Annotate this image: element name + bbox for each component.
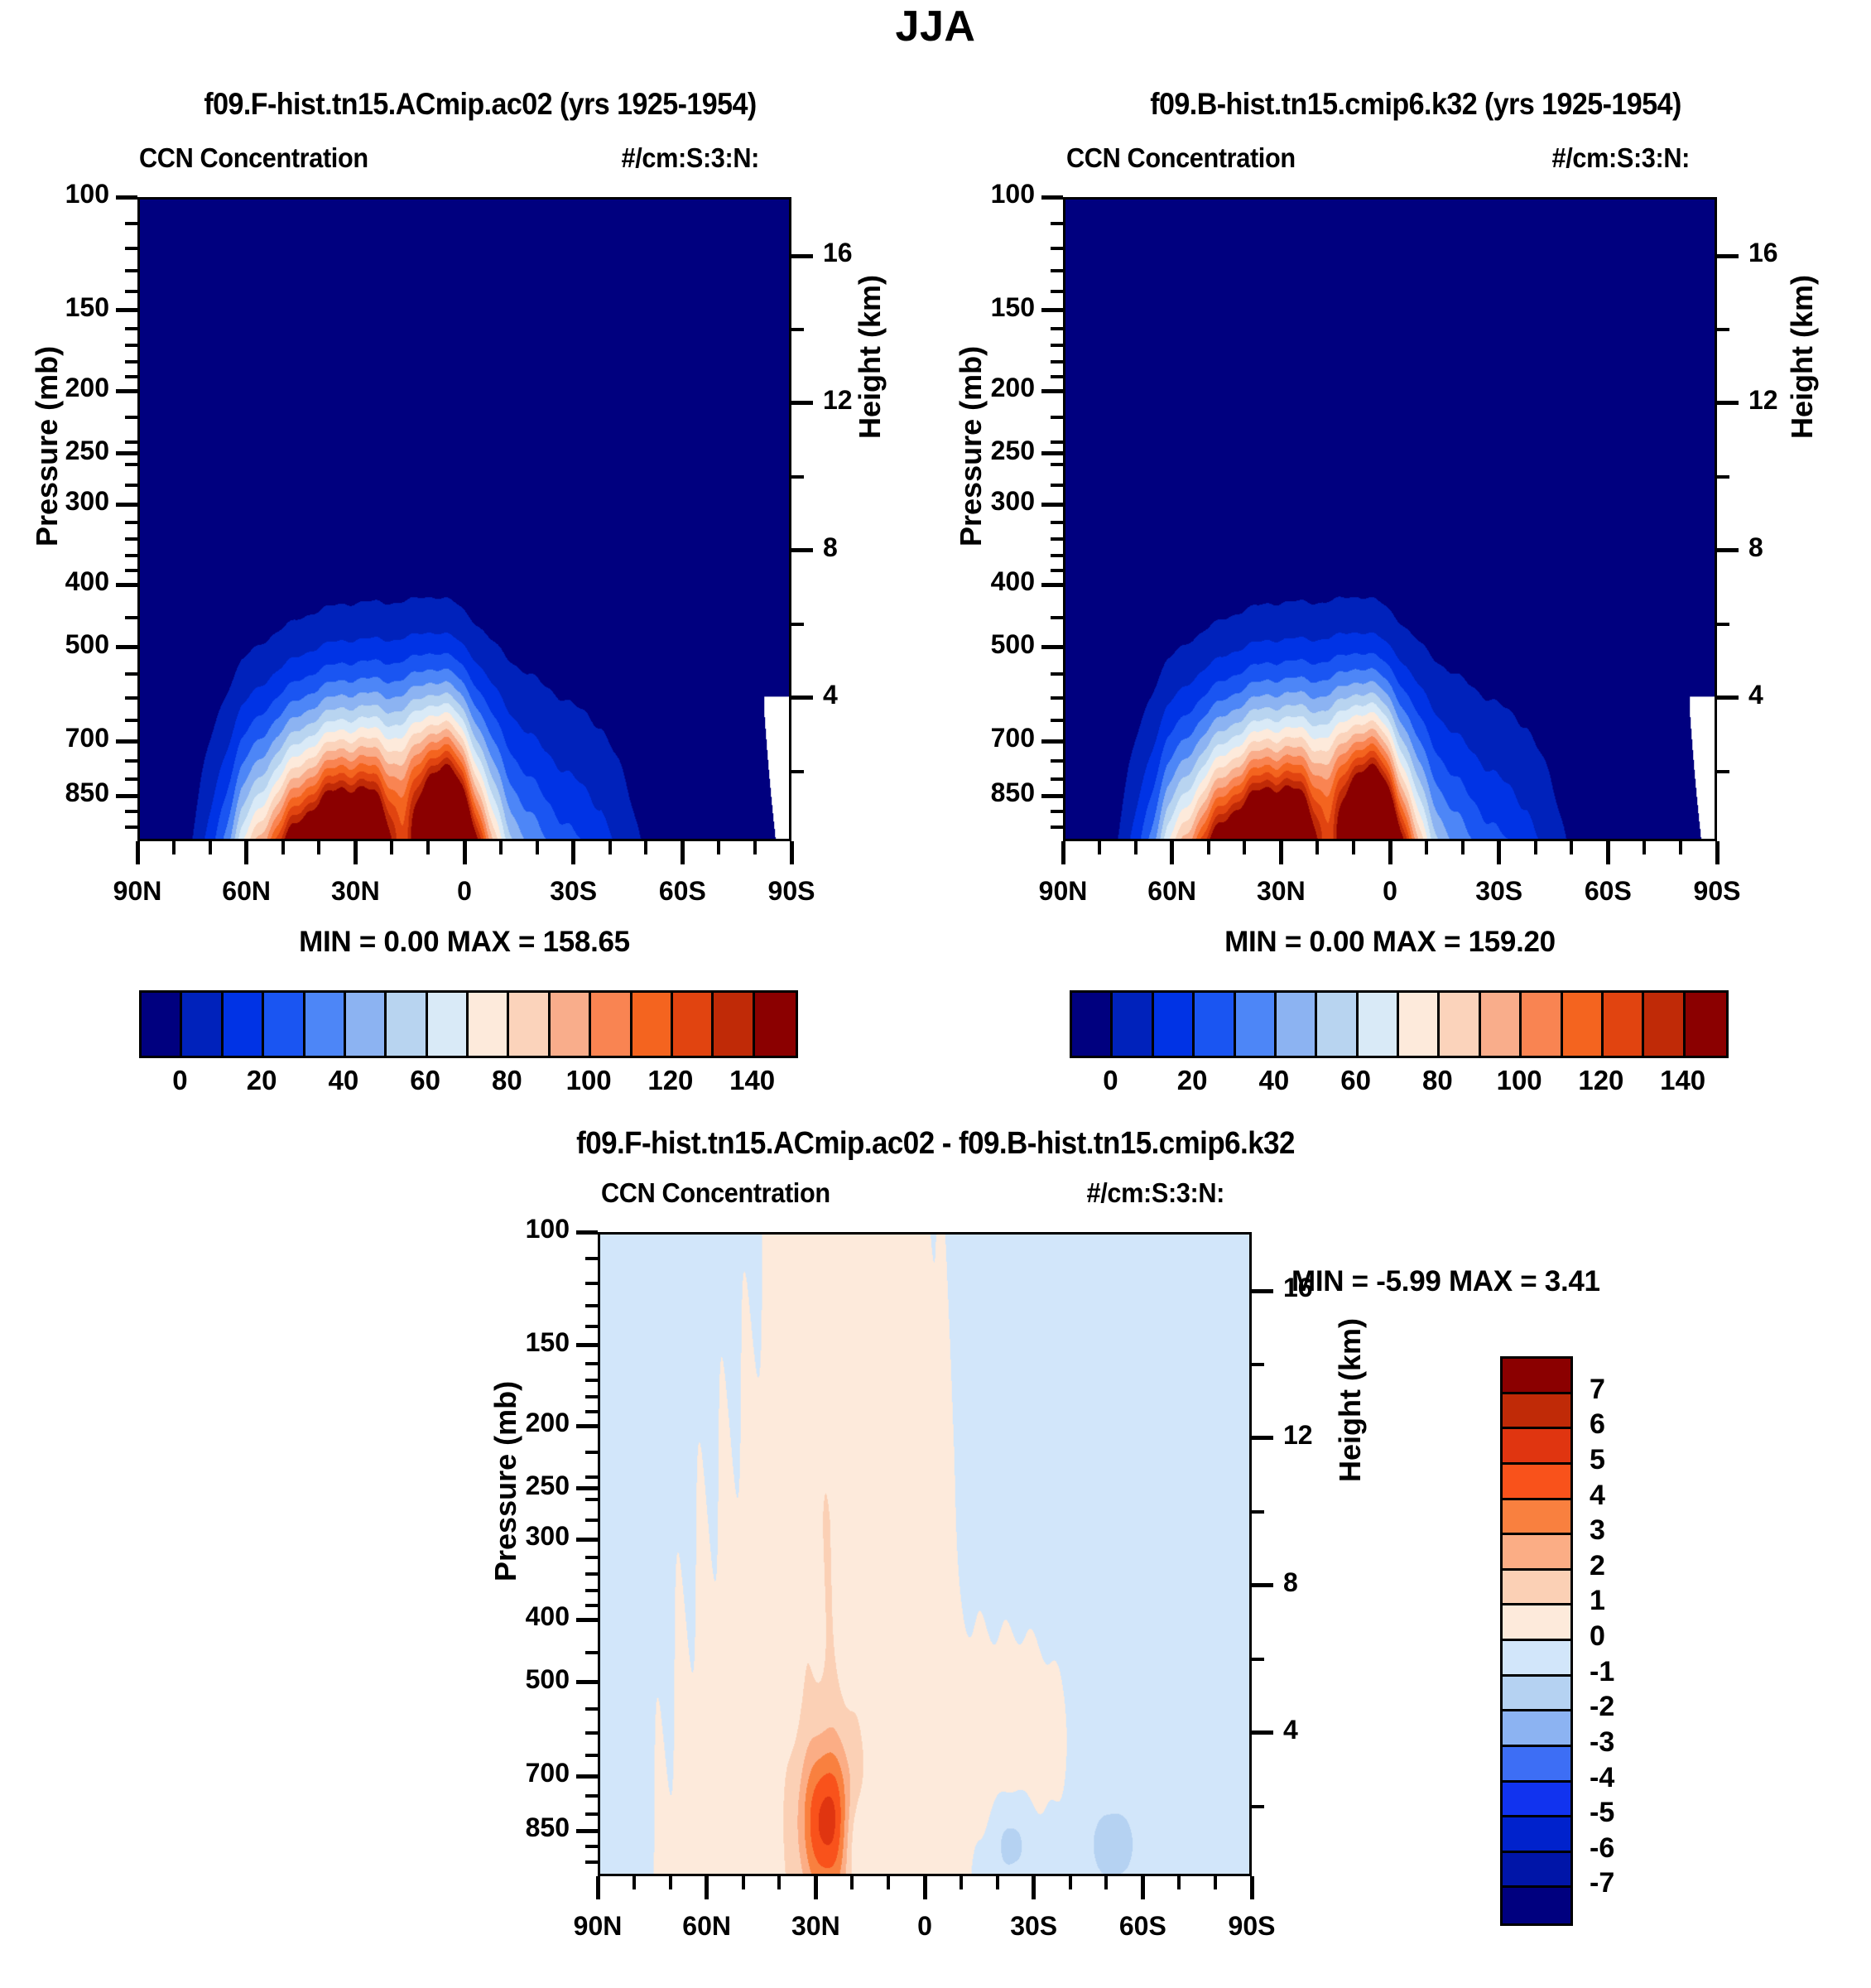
- colorbar-swatch: [509, 993, 550, 1056]
- left-panel-height-tick-label: 8: [823, 532, 897, 563]
- left-panel-lat-minor-tick: [753, 841, 757, 854]
- left-panel-pressure-tick-label: 100: [0, 179, 109, 209]
- diff-panel-pressure-minor-tick: [585, 1731, 598, 1735]
- right-panel-pressure-minor-tick: [1051, 696, 1063, 700]
- diff-panel-height-tick: [1252, 1436, 1273, 1440]
- right-panel-pressure-tick: [1041, 583, 1063, 587]
- colorbar-swatch: [1503, 1853, 1570, 1889]
- right-panel-lat-minor-tick: [1134, 841, 1138, 854]
- diff-panel-lat-minor-tick: [742, 1876, 745, 1889]
- left-panel-height-tick: [791, 401, 813, 405]
- left-panel-pressure-tick: [116, 308, 137, 312]
- left-panel-height-tick: [791, 696, 813, 700]
- right-panel-pressure-tick: [1041, 389, 1063, 393]
- left-panel-lat-minor-tick: [281, 841, 285, 854]
- right-panel-lat-minor-tick: [1243, 841, 1246, 854]
- right-panel-lat-tick: [1497, 841, 1501, 864]
- right-panel-pressure-tick-label: 300: [897, 486, 1035, 517]
- diff-panel-pressure-minor-tick: [585, 1379, 598, 1382]
- left-panel-pressure-tick-label: 150: [0, 292, 109, 323]
- colorbar-tick-label: 2: [1590, 1550, 1605, 1582]
- right-panel-lat-minor-tick: [1570, 841, 1573, 854]
- colorbar-swatch: [1503, 1888, 1570, 1923]
- colorbar-tick-label: 6: [1590, 1408, 1605, 1441]
- colorbar-tick-label: -5: [1590, 1797, 1614, 1829]
- right-panel-lat-minor-tick: [1461, 841, 1465, 854]
- right-panel-lat-minor-tick: [1643, 841, 1646, 854]
- left-panel-pressure-tick-label: 500: [0, 629, 109, 660]
- colorbar-swatch: [1503, 1747, 1570, 1783]
- diff-panel-pressure-tick: [576, 1680, 598, 1684]
- colorbar-swatch: [1399, 993, 1440, 1056]
- diff-panel-pressure-tick: [576, 1230, 598, 1235]
- panel-sublabel-variable-right: CCN Concentration: [1066, 142, 1296, 174]
- diff-panel-pressure-minor-tick: [585, 1519, 598, 1522]
- panel-sublabel-variable-left: CCN Concentration: [139, 142, 368, 174]
- panel-title-left: f09.F-hist.tn15.ACmip.ac02 (yrs 1925-195…: [84, 87, 877, 122]
- colorbar-swatch: [1503, 1394, 1570, 1430]
- minmax-label-left: MIN = 0.00 MAX = 158.65: [137, 926, 791, 959]
- right-panel-pressure-minor-tick: [1051, 826, 1063, 829]
- right-panel-pressure-tick: [1041, 794, 1063, 798]
- colorbar-right: [1070, 990, 1729, 1058]
- plot-canvas-diff: [600, 1235, 1249, 1874]
- panel-sublabel-variable-diff: CCN Concentration: [601, 1177, 830, 1209]
- left-panel-pressure-tick: [116, 739, 137, 744]
- colorbar-swatch: [1154, 993, 1195, 1056]
- left-panel-pressure-minor-tick: [125, 327, 137, 330]
- diff-panel-lat-minor-tick: [1069, 1876, 1072, 1889]
- right-panel-height-tick-label: 8: [1748, 532, 1823, 563]
- diff-panel-pressure-tick: [576, 1538, 598, 1542]
- right-panel-pressure-minor-tick: [1051, 360, 1063, 363]
- diff-panel-height-tick: [1252, 1289, 1273, 1293]
- left-panel-pressure-minor-tick: [125, 440, 137, 444]
- diff-panel-pressure-minor-tick: [585, 1282, 598, 1285]
- right-panel-lat-tick: [1061, 841, 1065, 864]
- right-panel-lat-minor-tick: [1098, 841, 1101, 854]
- right-panel-pressure-minor-tick: [1051, 416, 1063, 419]
- diff-panel-pressure-minor-tick: [585, 1395, 598, 1398]
- left-panel-pressure-tick: [116, 389, 137, 393]
- diff-panel-pressure-minor-tick: [585, 1325, 598, 1328]
- left-panel-pressure-minor-tick: [125, 777, 137, 781]
- right-panel-pressure-tick-label: 400: [897, 566, 1035, 597]
- left-panel-height-minor-tick: [791, 328, 804, 331]
- diff-panel-lat-minor-tick: [1177, 1876, 1181, 1889]
- colorbar-swatch: [1503, 1711, 1570, 1747]
- left-panel-lat-tick: [790, 841, 794, 864]
- colorbar-swatch: [1072, 993, 1113, 1056]
- diff-panel-height-tick-label: 16: [1283, 1273, 1358, 1303]
- diff-panel-pressure-minor-tick: [585, 1475, 598, 1479]
- right-panel-pressure-tick-label: 850: [897, 777, 1035, 808]
- diff-panel-pressure-tick-label: 700: [432, 1758, 570, 1788]
- left-panel-lat-minor-tick: [717, 841, 720, 854]
- colorbar-swatch: [142, 993, 182, 1056]
- diff-panel-pressure-tick: [576, 1829, 598, 1833]
- contour-plot-left: [137, 197, 791, 841]
- right-panel-lat-tick-label: 90S: [1651, 876, 1783, 907]
- right-panel-lat-minor-tick: [1425, 841, 1428, 854]
- diff-panel-lat-minor-tick: [850, 1876, 854, 1889]
- panel-title-right: f09.B-hist.tn15.cmip6.k32 (yrs 1925-1954…: [1035, 87, 1796, 122]
- diff-panel-pressure-minor-tick: [585, 1410, 598, 1413]
- right-panel-height-tick-label: 16: [1748, 238, 1823, 268]
- left-panel-pressure-minor-tick: [125, 290, 137, 293]
- contour-plot-right: [1063, 197, 1717, 841]
- left-panel-lat-minor-tick: [644, 841, 647, 854]
- diff-panel-pressure-minor-tick: [585, 1845, 598, 1848]
- left-panel-height-tick-label: 12: [823, 385, 897, 416]
- colorbar-swatch: [346, 993, 387, 1056]
- colorbar-swatch: [1503, 1571, 1570, 1606]
- diff-panel-pressure-minor-tick: [585, 1651, 598, 1654]
- diff-panel-height-minor-tick: [1252, 1510, 1264, 1514]
- right-panel-pressure-minor-tick: [1051, 777, 1063, 781]
- diff-panel-pressure-minor-tick: [585, 1362, 598, 1365]
- left-panel-pressure-minor-tick: [125, 416, 137, 419]
- left-panel-pressure-tick: [116, 503, 137, 507]
- right-panel-pressure-tick: [1041, 503, 1063, 507]
- left-panel-height-minor-tick: [791, 623, 804, 626]
- right-panel-pressure-minor-tick: [1051, 269, 1063, 272]
- diff-panel-lat-tick: [1141, 1876, 1145, 1899]
- diff-panel-lat-minor-tick: [632, 1876, 636, 1889]
- left-panel-pressure-tick-label: 400: [0, 566, 109, 597]
- right-panel-height-tick: [1717, 696, 1739, 700]
- right-panel-pressure-tick-label: 100: [897, 179, 1035, 209]
- panel-sublabel-units-diff: #/cm:S:3:N:: [1087, 1177, 1224, 1209]
- colorbar-swatch: [1359, 993, 1399, 1056]
- right-panel-pressure-minor-tick: [1051, 344, 1063, 347]
- diff-panel-pressure-tick-label: 850: [432, 1812, 570, 1843]
- right-panel-pressure-tick-label: 700: [897, 723, 1035, 753]
- diff-panel-pressure-tick-label: 150: [432, 1327, 570, 1358]
- diff-panel-lat-minor-tick: [960, 1876, 963, 1889]
- right-panel-pressure-minor-tick: [1051, 440, 1063, 444]
- diff-panel-height-tick: [1252, 1730, 1273, 1735]
- colorbar-swatch: [755, 993, 796, 1056]
- plot-canvas-right: [1065, 200, 1715, 839]
- right-panel-pressure-minor-tick: [1051, 375, 1063, 378]
- colorbar-swatch: [1195, 993, 1235, 1056]
- diff-panel-pressure-tick: [576, 1424, 598, 1428]
- left-panel-pressure-tick-label: 700: [0, 723, 109, 753]
- left-panel-pressure-tick: [116, 583, 137, 587]
- left-panel-pressure-tick: [116, 645, 137, 649]
- colorbar-swatch: [1503, 1677, 1570, 1712]
- diff-panel-pressure-tick-label: 100: [432, 1214, 570, 1244]
- left-panel-lat-minor-tick: [536, 841, 539, 854]
- page-title: JJA: [0, 2, 1871, 51]
- colorbar-swatch: [1236, 993, 1277, 1056]
- right-panel-pressure-minor-tick: [1051, 521, 1063, 524]
- right-panel-pressure-tick-label: 200: [897, 373, 1035, 403]
- colorbar-tick-label: -3: [1590, 1726, 1614, 1759]
- colorbar-swatch: [1503, 1465, 1570, 1500]
- colorbar-tick-label: 1: [1590, 1585, 1605, 1617]
- left-panel-height-tick-label: 4: [823, 680, 897, 710]
- colorbar-diff: [1500, 1356, 1573, 1926]
- diff-panel-height-minor-tick: [1252, 1805, 1264, 1808]
- left-panel-pressure-minor-tick: [125, 222, 137, 225]
- right-panel-lat-tick: [1170, 841, 1174, 864]
- colorbar-tick-label: 140: [703, 1065, 802, 1096]
- right-panel-pressure-tick-label: 150: [897, 292, 1035, 323]
- diff-panel-lat-tick: [1032, 1876, 1036, 1899]
- left-panel-lat-tick: [463, 841, 467, 864]
- colorbar-swatch: [305, 993, 346, 1056]
- colorbar-swatch: [1644, 993, 1685, 1056]
- plot-canvas-left: [140, 200, 789, 839]
- diff-panel-height-minor-tick: [1252, 1363, 1264, 1366]
- diff-panel-pressure-tick: [576, 1774, 598, 1779]
- right-panel-lat-minor-tick: [1207, 841, 1210, 854]
- diff-panel-lat-tick: [1250, 1876, 1254, 1899]
- diff-panel-height-tick-label: 8: [1283, 1567, 1358, 1598]
- colorbar-swatch: [1503, 1359, 1570, 1394]
- left-panel-height-tick: [791, 548, 813, 552]
- right-panel-pressure-minor-tick: [1051, 719, 1063, 722]
- left-panel-lat-minor-tick: [499, 841, 503, 854]
- colorbar-left: [139, 990, 798, 1058]
- diff-panel-lat-minor-tick: [777, 1876, 781, 1889]
- colorbar-swatch: [1481, 993, 1522, 1056]
- diff-panel-pressure-tick: [576, 1486, 598, 1490]
- colorbar-swatch: [1440, 993, 1480, 1056]
- left-panel-pressure-tick-label: 250: [0, 436, 109, 466]
- diff-panel-pressure-tick: [576, 1618, 598, 1622]
- right-panel-pressure-minor-tick: [1051, 327, 1063, 330]
- diff-panel-height-tick-label: 12: [1283, 1420, 1358, 1451]
- colorbar-swatch: [1503, 1429, 1570, 1465]
- diff-panel-pressure-tick-label: 200: [432, 1408, 570, 1438]
- right-panel-pressure-minor-tick: [1051, 222, 1063, 225]
- left-panel-pressure-minor-tick: [125, 696, 137, 700]
- diff-panel-pressure-minor-tick: [585, 1589, 598, 1592]
- colorbar-swatch: [1503, 1783, 1570, 1818]
- right-panel-pressure-minor-tick: [1051, 537, 1063, 541]
- right-panel-height-minor-tick: [1717, 770, 1729, 773]
- diff-panel-height-minor-tick: [1252, 1658, 1264, 1661]
- colorbar-tick-label: 5: [1590, 1444, 1605, 1476]
- diff-panel-pressure-minor-tick: [585, 1604, 598, 1607]
- right-panel-pressure-tick: [1041, 645, 1063, 649]
- colorbar-swatch: [387, 993, 427, 1056]
- colorbar-swatch: [1277, 993, 1317, 1056]
- right-panel-pressure-minor-tick: [1051, 247, 1063, 250]
- diff-panel-pressure-tick-label: 500: [432, 1664, 570, 1695]
- right-panel-height-tick: [1717, 254, 1739, 258]
- right-panel-lat-minor-tick: [1679, 841, 1682, 854]
- right-panel-pressure-tick: [1041, 451, 1063, 455]
- colorbar-swatch: [1503, 1605, 1570, 1641]
- diff-panel-lat-tick: [814, 1876, 818, 1899]
- right-panel-pressure-tick-label: 500: [897, 629, 1035, 660]
- diff-panel-pressure-minor-tick: [585, 1498, 598, 1501]
- right-panel-lat-minor-tick: [1352, 841, 1355, 854]
- diff-panel-pressure-tick-label: 250: [432, 1471, 570, 1501]
- right-panel-height-tick: [1717, 548, 1739, 552]
- colorbar-swatch: [1503, 1535, 1570, 1571]
- left-panel-lat-minor-tick: [426, 841, 430, 854]
- right-panel-pressure-tick: [1041, 195, 1063, 200]
- left-panel-pressure-tick-label: 850: [0, 777, 109, 808]
- colorbar-swatch: [1503, 1817, 1570, 1853]
- diff-panel-pressure-minor-tick: [585, 1304, 598, 1307]
- colorbar-swatch: [1604, 993, 1644, 1056]
- colorbar-swatch: [591, 993, 632, 1056]
- left-panel-pressure-minor-tick: [125, 484, 137, 487]
- diff-panel-pressure-minor-tick: [585, 1572, 598, 1576]
- colorbar-swatch: [1503, 1500, 1570, 1536]
- left-panel-pressure-minor-tick: [125, 344, 137, 347]
- diff-panel-height-tick-label: 4: [1283, 1715, 1358, 1745]
- colorbar-swatch: [182, 993, 223, 1056]
- diff-panel-lat-minor-tick: [996, 1876, 999, 1889]
- diff-panel-pressure-minor-tick: [585, 1257, 598, 1260]
- left-panel-lat-tick: [354, 841, 358, 864]
- left-panel-pressure-minor-tick: [125, 810, 137, 813]
- colorbar-swatch: [673, 993, 714, 1056]
- left-panel-height-tick-label: 16: [823, 238, 897, 268]
- left-panel-lat-tick: [571, 841, 575, 864]
- diff-panel-pressure-minor-tick: [585, 1451, 598, 1454]
- right-panel-height-minor-tick: [1717, 475, 1729, 479]
- left-panel-lat-minor-tick: [172, 841, 176, 854]
- right-panel-lat-tick: [1606, 841, 1610, 864]
- colorbar-tick-label: 140: [1633, 1065, 1733, 1096]
- diff-panel-pressure-tick: [576, 1343, 598, 1347]
- left-panel-pressure-minor-tick: [125, 537, 137, 541]
- diff-panel-lat-minor-tick: [1104, 1876, 1108, 1889]
- left-panel-lat-minor-tick: [390, 841, 393, 854]
- panel-title-diff: f09.F-hist.tn15.ACmip.ac02 - f09.B-hist.…: [440, 1126, 1431, 1162]
- left-panel-height-minor-tick: [791, 475, 804, 479]
- left-panel-pressure-minor-tick: [125, 759, 137, 763]
- diff-panel-lat-tick-label: 90S: [1186, 1911, 1318, 1942]
- colorbar-tick-label: -2: [1590, 1691, 1614, 1723]
- diff-panel-pressure-minor-tick: [585, 1812, 598, 1816]
- diff-panel-pressure-minor-tick: [585, 1707, 598, 1711]
- left-panel-lat-minor-tick: [209, 841, 212, 854]
- right-panel-lat-tick: [1715, 841, 1719, 864]
- diff-panel-lat-minor-tick: [887, 1876, 890, 1889]
- colorbar-tick-label: 3: [1590, 1514, 1605, 1547]
- left-panel-pressure-minor-tick: [125, 719, 137, 722]
- colorbar-swatch: [1686, 993, 1726, 1056]
- left-panel-pressure-minor-tick: [125, 463, 137, 466]
- right-panel-pressure-minor-tick: [1051, 290, 1063, 293]
- diff-panel-pressure-minor-tick: [585, 1754, 598, 1757]
- left-panel-pressure-minor-tick: [125, 569, 137, 572]
- diff-panel-height-tick: [1252, 1583, 1273, 1587]
- right-panel-pressure-minor-tick: [1051, 554, 1063, 557]
- colorbar-tick-label: -6: [1590, 1832, 1614, 1865]
- colorbar-swatch: [1522, 993, 1562, 1056]
- right-panel-pressure-minor-tick: [1051, 759, 1063, 763]
- colorbar-swatch: [469, 993, 509, 1056]
- colorbar-swatch: [714, 993, 754, 1056]
- right-panel-pressure-tick-label: 250: [897, 436, 1035, 466]
- colorbar-swatch: [551, 993, 591, 1056]
- right-panel-height-tick-label: 4: [1748, 680, 1823, 710]
- right-panel-height-minor-tick: [1717, 328, 1729, 331]
- right-panel-pressure-tick: [1041, 308, 1063, 312]
- colorbar-swatch: [1113, 993, 1153, 1056]
- colorbar-swatch: [428, 993, 469, 1056]
- right-panel-height-tick: [1717, 401, 1739, 405]
- diff-panel-lat-tick: [923, 1876, 927, 1899]
- colorbar-swatch: [632, 993, 673, 1056]
- colorbar-swatch: [1317, 993, 1358, 1056]
- left-panel-height-tick: [791, 254, 813, 258]
- colorbar-tick-label: 7: [1590, 1374, 1605, 1406]
- right-panel-pressure-minor-tick: [1051, 463, 1063, 466]
- right-panel-height-minor-tick: [1717, 623, 1729, 626]
- panel-sublabel-units-right: #/cm:S:3:N:: [1552, 142, 1690, 174]
- right-panel-pressure-minor-tick: [1051, 484, 1063, 487]
- left-panel-lat-tick: [244, 841, 248, 864]
- diff-panel-lat-minor-tick: [669, 1876, 672, 1889]
- minmax-label-right: MIN = 0.00 MAX = 159.20: [1063, 926, 1717, 959]
- left-panel-pressure-tick: [116, 794, 137, 798]
- left-panel-height-minor-tick: [791, 770, 804, 773]
- left-panel-lat-tick-label: 90S: [725, 876, 858, 907]
- colorbar-tick-label: -7: [1590, 1867, 1614, 1899]
- left-panel-pressure-tick-label: 200: [0, 373, 109, 403]
- diff-panel-pressure-tick-label: 300: [432, 1521, 570, 1552]
- left-panel-lat-tick: [136, 841, 140, 864]
- diff-panel-lat-tick: [596, 1876, 600, 1899]
- colorbar-swatch: [1503, 1641, 1570, 1677]
- left-panel-pressure-minor-tick: [125, 554, 137, 557]
- right-panel-pressure-minor-tick: [1051, 569, 1063, 572]
- left-panel-pressure-tick: [116, 195, 137, 200]
- left-panel-pressure-tick: [116, 451, 137, 455]
- right-panel-pressure-minor-tick: [1051, 616, 1063, 619]
- diff-panel-pressure-minor-tick: [585, 1556, 598, 1559]
- panel-sublabel-units-left: #/cm:S:3:N:: [622, 142, 759, 174]
- colorbar-tick-label: 0: [1590, 1620, 1605, 1653]
- right-panel-pressure-tick: [1041, 739, 1063, 744]
- right-panel-lat-minor-tick: [1315, 841, 1319, 854]
- right-panel-pressure-minor-tick: [1051, 810, 1063, 813]
- left-panel-pressure-minor-tick: [125, 616, 137, 619]
- right-panel-lat-tick: [1279, 841, 1283, 864]
- diff-panel-lat-tick: [705, 1876, 709, 1899]
- left-panel-pressure-minor-tick: [125, 247, 137, 250]
- diff-panel-pressure-minor-tick: [585, 1794, 598, 1798]
- left-panel-lat-tick: [681, 841, 685, 864]
- contour-plot-diff: [598, 1232, 1252, 1876]
- left-panel-pressure-minor-tick: [125, 672, 137, 676]
- colorbar-swatch: [1563, 993, 1604, 1056]
- diff-panel-lat-minor-tick: [1214, 1876, 1217, 1889]
- left-panel-pressure-minor-tick: [125, 269, 137, 272]
- left-panel-pressure-minor-tick: [125, 375, 137, 378]
- left-panel-lat-minor-tick: [317, 841, 320, 854]
- diff-panel-pressure-minor-tick: [585, 1860, 598, 1864]
- y2-axis-title-diff: Height (km): [1333, 1318, 1368, 1482]
- colorbar-tick-label: -4: [1590, 1762, 1614, 1794]
- colorbar-tick-label: 4: [1590, 1480, 1605, 1512]
- diff-panel-pressure-tick-label: 400: [432, 1601, 570, 1632]
- right-panel-pressure-minor-tick: [1051, 672, 1063, 676]
- right-panel-lat-minor-tick: [1534, 841, 1537, 854]
- right-panel-height-tick-label: 12: [1748, 385, 1823, 416]
